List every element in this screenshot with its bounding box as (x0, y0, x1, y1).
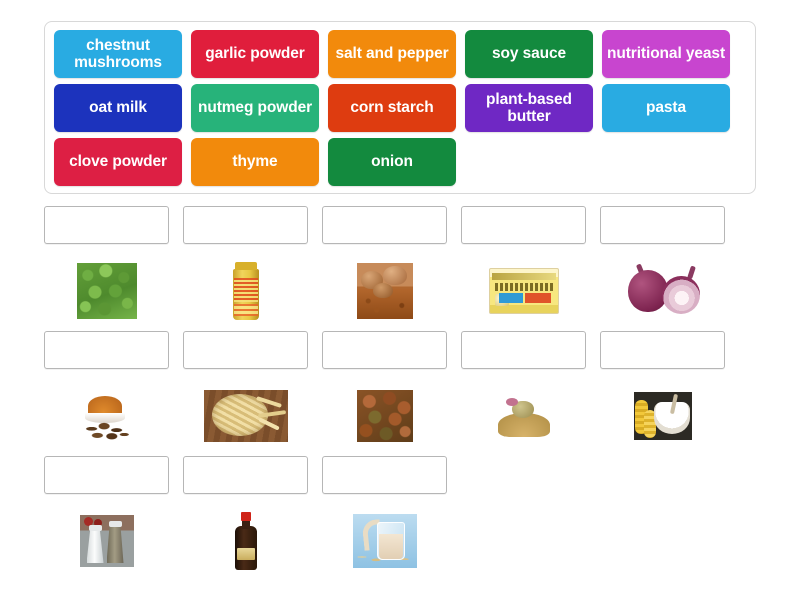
word-tile-tray: chestnut mushrooms garlic powder salt an… (44, 21, 756, 194)
thumbnail-wrap (183, 258, 308, 324)
thumbnail-wrap (322, 508, 447, 574)
dropzone[interactable] (322, 456, 447, 494)
tile-label: oat milk (58, 99, 178, 116)
thumbnail-wrap (322, 383, 447, 449)
answer-cell-chestnut-mushrooms (322, 206, 447, 331)
tile-row-3: clove powder thyme onion (54, 138, 746, 186)
thumbnail-wrap (322, 258, 447, 324)
tile-label: pasta (606, 99, 726, 116)
tile-garlic-powder[interactable]: garlic powder (191, 30, 319, 78)
corn-starch-bowl-photo (634, 392, 692, 440)
answer-row-2 (44, 331, 756, 456)
dropzone[interactable] (183, 331, 308, 369)
tile-pasta[interactable]: pasta (602, 84, 730, 132)
tile-label: onion (332, 153, 452, 170)
tile-clove-powder[interactable]: clove powder (54, 138, 182, 186)
soy-sauce-bottle-photo (233, 512, 259, 570)
tile-onion[interactable]: onion (328, 138, 456, 186)
thumbnail-wrap (44, 258, 169, 324)
tile-label: nutmeg powder (195, 99, 315, 116)
tile-label: garlic powder (195, 45, 315, 62)
answer-cell-thyme (44, 206, 169, 331)
dropzone[interactable] (183, 456, 308, 494)
dropzone[interactable] (322, 331, 447, 369)
dropzone[interactable] (44, 331, 169, 369)
tile-thyme[interactable]: thyme (191, 138, 319, 186)
tile-label: soy sauce (469, 45, 589, 62)
answer-cell-cooked-mushrooms (322, 331, 447, 456)
answer-cell-plant-based-butter (461, 206, 586, 331)
dropzone[interactable] (183, 206, 308, 244)
thumbnail-wrap (44, 508, 169, 574)
dropzone[interactable] (600, 331, 725, 369)
thyme-leaves-photo (77, 263, 137, 319)
dropzone[interactable] (44, 456, 169, 494)
tile-corn-starch[interactable]: corn starch (328, 84, 456, 132)
thumbnail-wrap (600, 383, 725, 449)
tile-label: salt and pepper (332, 45, 452, 62)
nutmeg-powder-photo (494, 395, 554, 437)
answer-row-1 (44, 206, 756, 331)
thumbnail-wrap (183, 508, 308, 574)
thumbnail-wrap (461, 383, 586, 449)
tile-oat-milk[interactable]: oat milk (54, 84, 182, 132)
tile-label: thyme (195, 153, 315, 170)
tile-salt-and-pepper[interactable]: salt and pepper (328, 30, 456, 78)
tile-label: clove powder (58, 153, 178, 170)
answer-cell-pasta (183, 331, 308, 456)
answer-cell-empty-4 (461, 456, 586, 581)
tile-chestnut-mushrooms[interactable]: chestnut mushrooms (54, 30, 182, 78)
tile-soy-sauce[interactable]: soy sauce (465, 30, 593, 78)
tile-nutritional-yeast[interactable]: nutritional yeast (602, 30, 730, 78)
tile-label: plant-based butter (469, 91, 589, 126)
cooked-mushrooms-photo (357, 390, 413, 442)
oat-milk-jug-photo (353, 514, 417, 568)
activity-root: chestnut mushrooms garlic powder salt an… (0, 0, 800, 600)
dropzone[interactable] (600, 206, 725, 244)
red-onion-photo (626, 264, 700, 318)
thumbnail-wrap (44, 383, 169, 449)
answer-cell-soy-sauce (183, 456, 308, 581)
answer-row-3 (44, 456, 756, 581)
dropzone[interactable] (322, 206, 447, 244)
answer-cell-oat-milk (322, 456, 447, 581)
dropzone[interactable] (44, 206, 169, 244)
tile-label: chestnut mushrooms (58, 37, 178, 72)
chestnut-mushrooms-photo (357, 263, 413, 319)
vegan-butter-box-photo (489, 268, 559, 314)
tile-nutmeg-powder[interactable]: nutmeg powder (191, 84, 319, 132)
tile-row-1: chestnut mushrooms garlic powder salt an… (54, 30, 746, 78)
answer-cell-garlic-powder (183, 206, 308, 331)
tile-label: corn starch (332, 99, 452, 116)
garlic-powder-jar-photo (233, 262, 259, 320)
thumbnail-wrap (600, 258, 725, 324)
dropzone[interactable] (461, 331, 586, 369)
tile-row-2: oat milk nutmeg powder corn starch plant… (54, 84, 746, 132)
thumbnail-wrap (461, 258, 586, 324)
answer-grid (44, 206, 756, 586)
answer-cell-salt-and-pepper (44, 456, 169, 581)
answer-cell-nutmeg-powder (461, 331, 586, 456)
pasta-tagliatelle-photo (204, 390, 288, 442)
answer-cell-corn-starch (600, 331, 725, 456)
thumbnail-wrap (183, 383, 308, 449)
tile-plant-based-butter[interactable]: plant-based butter (465, 84, 593, 132)
answer-cell-empty-5 (600, 456, 725, 581)
answer-cell-clove-powder (44, 331, 169, 456)
answer-cell-onion (600, 206, 725, 331)
tile-label: nutritional yeast (606, 45, 726, 62)
salt-and-pepper-shakers-photo (80, 515, 134, 567)
dropzone[interactable] (461, 206, 586, 244)
clove-powder-photo (79, 388, 135, 444)
